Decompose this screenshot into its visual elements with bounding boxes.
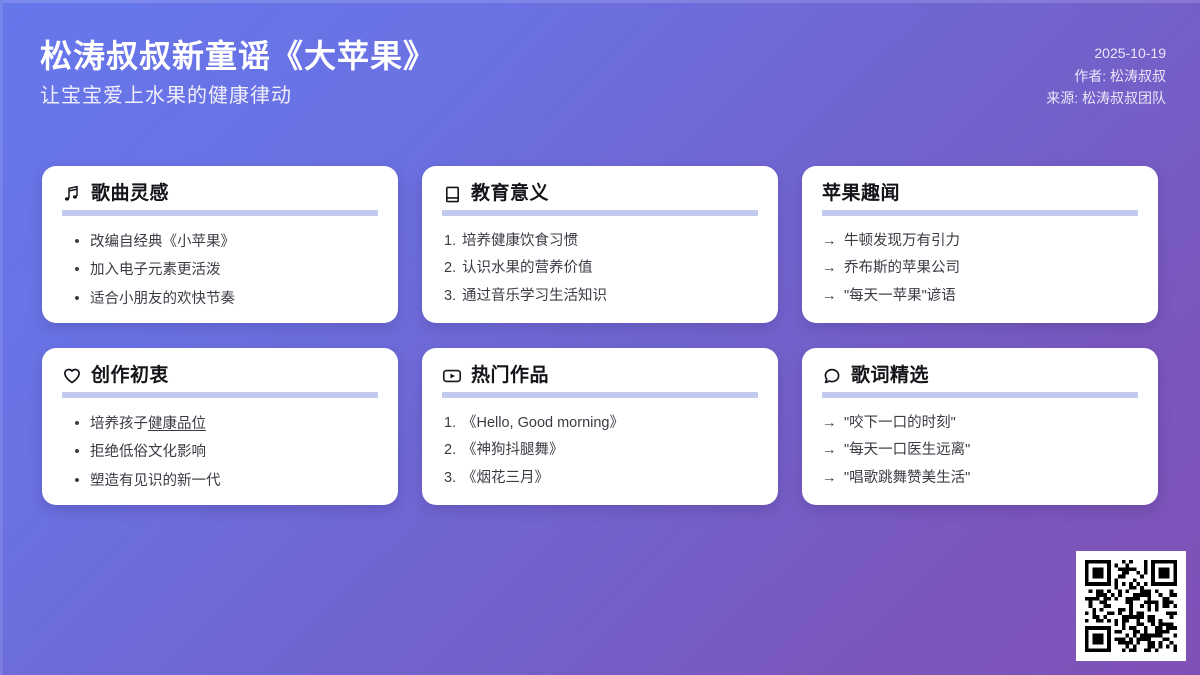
list-item-text: 牛顿发现万有引力 [844, 233, 960, 250]
list-item-text: 培养健康饮食习惯 [462, 233, 578, 250]
list-item: 3.《烟花三月》 [442, 465, 758, 492]
list-marker: → [822, 233, 844, 250]
page-subtitle: 让宝宝爱上水果的健康律动 [40, 83, 436, 109]
list-item: →乔布斯的苹果公司 [822, 255, 1138, 282]
list-marker: • [64, 443, 90, 461]
list-item: •塑造有见识的新一代 [62, 467, 378, 495]
card-list: →"咬下一口的时刻"→"每天一口医生远离"→"唱歌跳舞赞美生活" [822, 410, 1138, 492]
list-item: 1.培养健康饮食习惯 [442, 228, 758, 255]
card-accent-bar [442, 210, 758, 216]
list-item: •培养孩子健康品位 [62, 410, 378, 438]
list-item-text-plain: 培养孩子 [90, 416, 148, 432]
card-popular-works[interactable]: 热门作品1.《Hello, Good morning》2.《神狗抖腿舞》3.《烟… [422, 348, 778, 505]
header-left: 松涛叔叔新童谣《大苹果》 让宝宝爱上水果的健康律动 [40, 36, 436, 109]
list-item-text: "每天一口医生远离" [844, 442, 970, 459]
card-title: 教育意义 [471, 184, 549, 205]
book-icon [442, 184, 462, 204]
list-item: →"每天一口医生远离" [822, 437, 1138, 464]
list-item: •加入电子元素更活泼 [62, 256, 378, 284]
list-item-text: 通过音乐学习生活知识 [462, 288, 607, 305]
qr-code-image [1085, 560, 1177, 652]
list-marker: → [822, 470, 844, 487]
card-header: 热门作品 [442, 366, 758, 387]
list-item-text-link[interactable]: 健康品位 [148, 416, 206, 432]
list-item-text: 乔布斯的苹果公司 [844, 260, 960, 277]
list-marker: 3. [442, 288, 462, 305]
list-marker: • [64, 472, 90, 490]
card-header: 创作初衷 [62, 366, 378, 387]
list-item: 3.通过音乐学习生活知识 [442, 283, 758, 310]
list-marker: → [822, 415, 844, 432]
list-marker: → [822, 442, 844, 459]
meta-date: 2025-10-19 [1046, 42, 1166, 65]
list-item-text: 拒绝低俗文化影响 [90, 444, 206, 461]
list-item-text: "咬下一口的时刻" [844, 415, 956, 432]
list-item: 1.《Hello, Good morning》 [442, 410, 758, 437]
list-item-text: 塑造有见识的新一代 [90, 473, 221, 490]
card-apple-trivia[interactable]: 苹果趣闻→牛顿发现万有引力→乔布斯的苹果公司→"每天一苹果"谚语 [802, 166, 1158, 323]
list-marker: 2. [442, 442, 462, 459]
list-marker: 2. [442, 260, 462, 277]
list-item-text: 适合小朋友的欢快节奏 [90, 291, 235, 308]
card-accent-bar [442, 392, 758, 398]
card-accent-bar [62, 392, 378, 398]
music-note-icon [62, 184, 82, 204]
list-item: •适合小朋友的欢快节奏 [62, 285, 378, 313]
header-meta: 2025-10-19 作者: 松涛叔叔 来源: 松涛叔叔团队 [1046, 36, 1166, 110]
list-item-text: "每天一苹果"谚语 [844, 288, 956, 305]
list-item: •改编自经典《小苹果》 [62, 228, 378, 256]
card-title: 歌曲灵感 [91, 184, 169, 205]
card-list: •改编自经典《小苹果》•加入电子元素更活泼•适合小朋友的欢快节奏 [62, 228, 378, 313]
card-list: 1.《Hello, Good morning》2.《神狗抖腿舞》3.《烟花三月》 [442, 410, 758, 492]
list-marker: 3. [442, 470, 462, 487]
speech-bubble-icon [822, 366, 842, 386]
list-item-text: 加入电子元素更活泼 [90, 262, 221, 279]
card-list: •培养孩子健康品位•拒绝低俗文化影响•塑造有见识的新一代 [62, 410, 378, 495]
card-song-inspiration[interactable]: 歌曲灵感•改编自经典《小苹果》•加入电子元素更活泼•适合小朋友的欢快节奏 [42, 166, 398, 323]
list-marker: • [64, 415, 90, 433]
card-title: 苹果趣闻 [822, 184, 900, 205]
card-creative-intent[interactable]: 创作初衷•培养孩子健康品位•拒绝低俗文化影响•塑造有见识的新一代 [42, 348, 398, 505]
card-accent-bar [822, 392, 1138, 398]
list-marker: • [64, 261, 90, 279]
list-item: →"唱歌跳舞赞美生活" [822, 465, 1138, 492]
card-title: 热门作品 [471, 366, 549, 387]
card-title: 歌词精选 [851, 366, 929, 387]
card-lyric-highlights[interactable]: 歌词精选→"咬下一口的时刻"→"每天一口医生远离"→"唱歌跳舞赞美生活" [802, 348, 1158, 505]
card-accent-bar [822, 210, 1138, 216]
meta-author: 作者: 松涛叔叔 [1046, 65, 1166, 88]
card-accent-bar [62, 210, 378, 216]
list-marker: → [822, 260, 844, 277]
list-item-text: 《神狗抖腿舞》 [462, 442, 564, 459]
list-item-text: 《Hello, Good morning》 [462, 415, 624, 432]
list-marker: 1. [442, 415, 462, 432]
card-educational-value[interactable]: 教育意义1.培养健康饮食习惯2.认识水果的营养价值3.通过音乐学习生活知识 [422, 166, 778, 323]
list-marker: • [64, 233, 90, 251]
page-title: 松涛叔叔新童谣《大苹果》 [40, 36, 436, 77]
card-list: →牛顿发现万有引力→乔布斯的苹果公司→"每天一苹果"谚语 [822, 228, 1138, 310]
poster-root: 松涛叔叔新童谣《大苹果》 让宝宝爱上水果的健康律动 2025-10-19 作者:… [0, 0, 1200, 675]
list-item: →"咬下一口的时刻" [822, 410, 1138, 437]
card-title: 创作初衷 [91, 366, 169, 387]
qr-code[interactable] [1076, 551, 1186, 661]
poster-header: 松涛叔叔新童谣《大苹果》 让宝宝爱上水果的健康律动 2025-10-19 作者:… [40, 36, 1166, 110]
list-item-text: "唱歌跳舞赞美生活" [844, 470, 970, 487]
card-header: 苹果趣闻 [822, 184, 1138, 205]
card-list: 1.培养健康饮食习惯2.认识水果的营养价值3.通过音乐学习生活知识 [442, 228, 758, 310]
list-marker: 1. [442, 233, 462, 250]
heart-icon [62, 366, 82, 386]
card-header: 教育意义 [442, 184, 758, 205]
list-item: 2.《神狗抖腿舞》 [442, 437, 758, 464]
list-item: •拒绝低俗文化影响 [62, 438, 378, 466]
card-grid: 歌曲灵感•改编自经典《小苹果》•加入电子元素更活泼•适合小朋友的欢快节奏教育意义… [42, 166, 1158, 505]
list-marker: • [64, 290, 90, 308]
list-item-text: 改编自经典《小苹果》 [90, 234, 235, 251]
list-item-text: 培养孩子健康品位 [90, 416, 206, 433]
card-header: 歌曲灵感 [62, 184, 378, 205]
meta-source: 来源: 松涛叔叔团队 [1046, 87, 1166, 110]
list-item: →"每天一苹果"谚语 [822, 283, 1138, 310]
video-play-icon [442, 366, 462, 386]
card-header: 歌词精选 [822, 366, 1138, 387]
list-marker: → [822, 288, 844, 305]
list-item-text: 《烟花三月》 [462, 470, 549, 487]
list-item: →牛顿发现万有引力 [822, 228, 1138, 255]
list-item: 2.认识水果的营养价值 [442, 255, 758, 282]
list-item-text: 认识水果的营养价值 [462, 260, 593, 277]
